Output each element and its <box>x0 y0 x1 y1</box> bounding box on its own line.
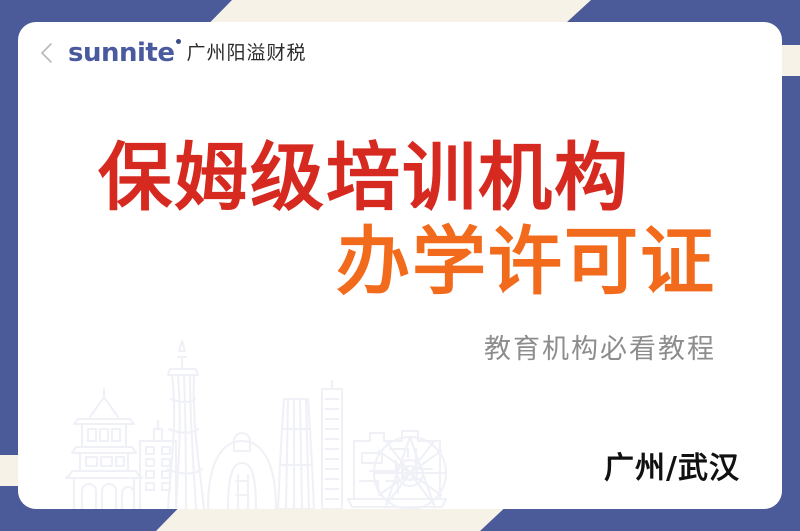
edge-band-left <box>0 0 18 455</box>
chevron-left-icon[interactable] <box>40 42 54 64</box>
card-header: sunnite 广州阳溢财税 <box>18 22 782 84</box>
edge-band-right <box>782 76 800 531</box>
hero-title-line2: 办学许可证 <box>98 224 716 302</box>
poster-root: sunnite 广州阳溢财税 保姆级培训机构 办学许可证 教育机构必看教程 广州… <box>0 0 800 531</box>
hero-section: 保姆级培训机构 办学许可证 教育机构必看教程 <box>18 140 782 366</box>
city-label: 广州/武汉 <box>604 443 740 487</box>
hero-title-line1: 保姆级培训机构 <box>98 140 716 218</box>
hero-subtitle: 教育机构必看教程 <box>98 327 716 366</box>
brand-logo-dot-icon <box>176 39 181 44</box>
brand-logo: sunnite <box>68 40 174 66</box>
content-card: sunnite 广州阳溢财税 保姆级培训机构 办学许可证 教育机构必看教程 广州… <box>18 22 782 509</box>
brand-name-cn: 广州阳溢财税 <box>186 44 306 63</box>
brand-logo-text: sunnite <box>68 38 174 68</box>
